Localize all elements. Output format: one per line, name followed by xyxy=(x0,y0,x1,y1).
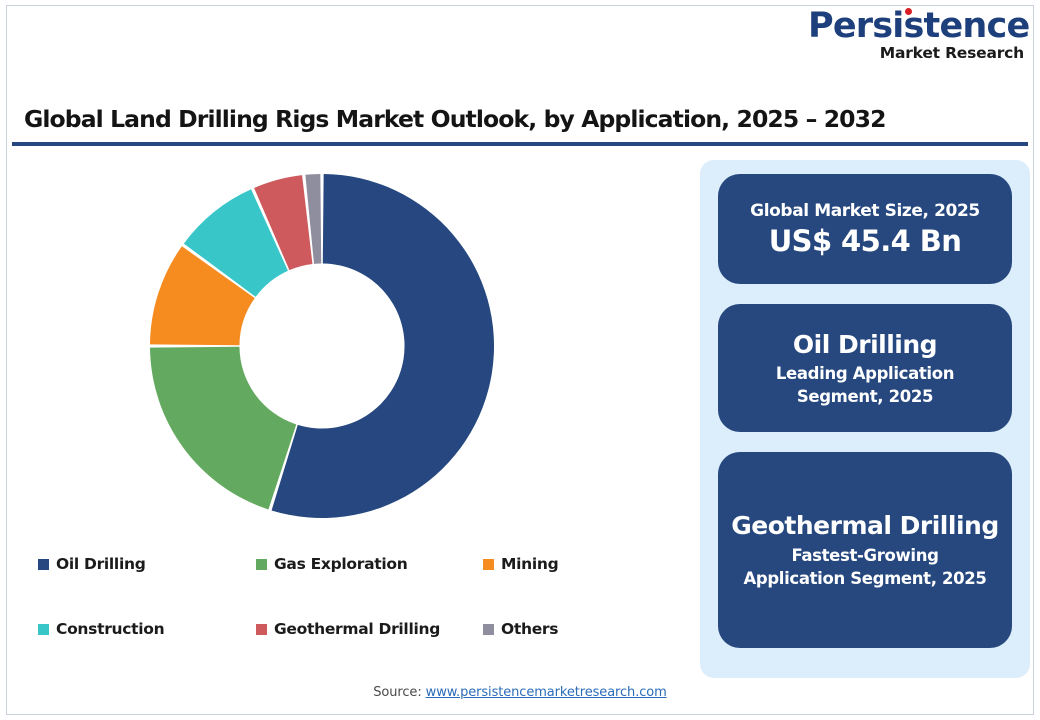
legend-item-others[interactable]: Others xyxy=(483,620,633,638)
legend-swatch-gas-exploration xyxy=(256,559,267,570)
legend-row: Construction Geothermal Drilling Others xyxy=(38,613,658,645)
logo-brand-text: Persistence xyxy=(808,8,1029,44)
chart-infographic-page: Persistence Market Research Global Land … xyxy=(0,0,1040,720)
legend-label-others: Others xyxy=(501,620,558,638)
market-size-value: US$ 45.4 Bn xyxy=(769,223,962,259)
legend-swatch-geothermal-drilling xyxy=(256,624,267,635)
leading-segment-name: Oil Drilling xyxy=(793,329,937,360)
source-line: Source: www.persistencemarketresearch.co… xyxy=(0,685,1040,700)
logo-red-dot-icon xyxy=(905,8,912,15)
highlight-card-fastest-growing-segment: Geothermal Drilling Fastest-Growing Appl… xyxy=(718,452,1012,648)
chart-area xyxy=(18,150,678,550)
leading-segment-note: Leading Application Segment, 2025 xyxy=(740,362,990,408)
highlight-card-leading-segment: Oil Drilling Leading Application Segment… xyxy=(718,304,1012,432)
market-size-caption: Global Market Size, 2025 xyxy=(750,200,980,223)
company-logo: Persistence Market Research xyxy=(808,8,1024,66)
source-link[interactable]: www.persistencemarketresearch.com xyxy=(426,685,667,700)
legend-item-geothermal-drilling[interactable]: Geothermal Drilling xyxy=(256,620,483,638)
legend-row: Oil Drilling Gas Exploration Mining xyxy=(38,548,658,580)
highlights-panel: Global Market Size, 2025 US$ 45.4 Bn Oil… xyxy=(700,160,1030,678)
legend-swatch-others xyxy=(483,624,494,635)
logo-brand-label: Persistence xyxy=(808,6,1029,46)
logo-tagline: Market Research xyxy=(808,45,1024,62)
legend-label-gas-exploration: Gas Exploration xyxy=(274,555,407,573)
fastest-growing-segment-note: Fastest-Growing Application Segment, 202… xyxy=(740,544,990,590)
legend-swatch-construction xyxy=(38,624,49,635)
donut-slice-gas-exploration[interactable] xyxy=(150,347,296,510)
legend-label-oil-drilling: Oil Drilling xyxy=(56,555,146,573)
legend-swatch-oil-drilling xyxy=(38,559,49,570)
page-title: Global Land Drilling Rigs Market Outlook… xyxy=(24,104,1004,134)
fastest-growing-segment-name: Geothermal Drilling xyxy=(731,510,998,542)
chart-legend: Oil Drilling Gas Exploration Mining Cons… xyxy=(38,548,658,645)
donut-chart xyxy=(148,172,496,520)
highlight-card-market-size: Global Market Size, 2025 US$ 45.4 Bn xyxy=(718,174,1012,284)
legend-label-mining: Mining xyxy=(501,555,558,573)
legend-swatch-mining xyxy=(483,559,494,570)
title-underline-rule xyxy=(12,142,1028,146)
legend-item-oil-drilling[interactable]: Oil Drilling xyxy=(38,555,256,573)
donut-slice-group xyxy=(150,174,494,518)
source-prefix: Source: xyxy=(373,685,425,700)
legend-item-construction[interactable]: Construction xyxy=(38,620,256,638)
legend-label-geothermal-drilling: Geothermal Drilling xyxy=(274,620,440,638)
legend-item-gas-exploration[interactable]: Gas Exploration xyxy=(256,555,483,573)
legend-label-construction: Construction xyxy=(56,620,164,638)
legend-item-mining[interactable]: Mining xyxy=(483,555,633,573)
